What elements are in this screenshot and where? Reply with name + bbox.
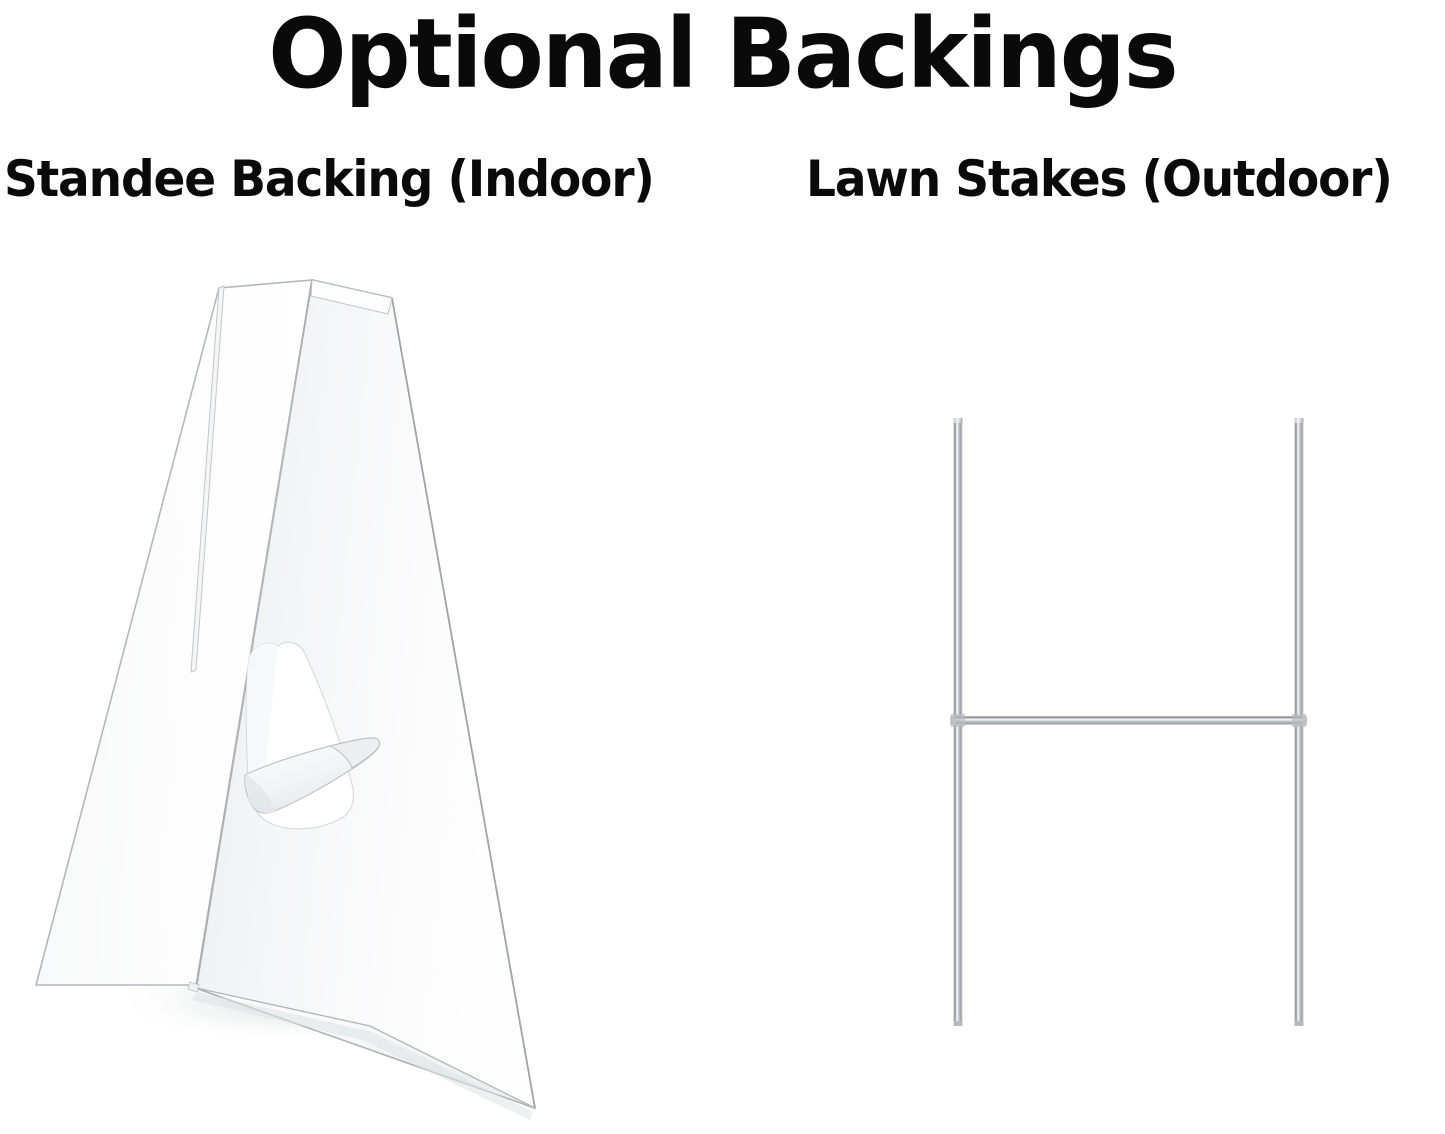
lawn-stakes-illustration-panel <box>722 240 1445 1134</box>
subheading-row: Standee Backing (Indoor) Lawn Stakes (Ou… <box>0 146 1445 218</box>
standee-section-title: Standee Backing (Indoor) <box>4 146 654 212</box>
left-leg-top-cap <box>954 418 963 423</box>
weld-joint-right <box>1292 714 1306 727</box>
page-title: Optional Backings <box>29 2 1416 106</box>
lawn-stake-illustration <box>722 240 1445 1134</box>
lawn-stakes-section-title: Lawn Stakes (Outdoor) <box>806 146 1392 212</box>
weld-joint-left <box>951 714 965 727</box>
standee-backing-illustration <box>0 240 722 1134</box>
right-leg-bottom-tip <box>1295 1021 1304 1026</box>
standee-illustration-panel <box>0 240 722 1134</box>
right-leg-top-cap <box>1295 418 1304 423</box>
left-leg-bottom-tip <box>954 1021 963 1026</box>
lawn-stake-crossbar <box>950 716 1307 725</box>
